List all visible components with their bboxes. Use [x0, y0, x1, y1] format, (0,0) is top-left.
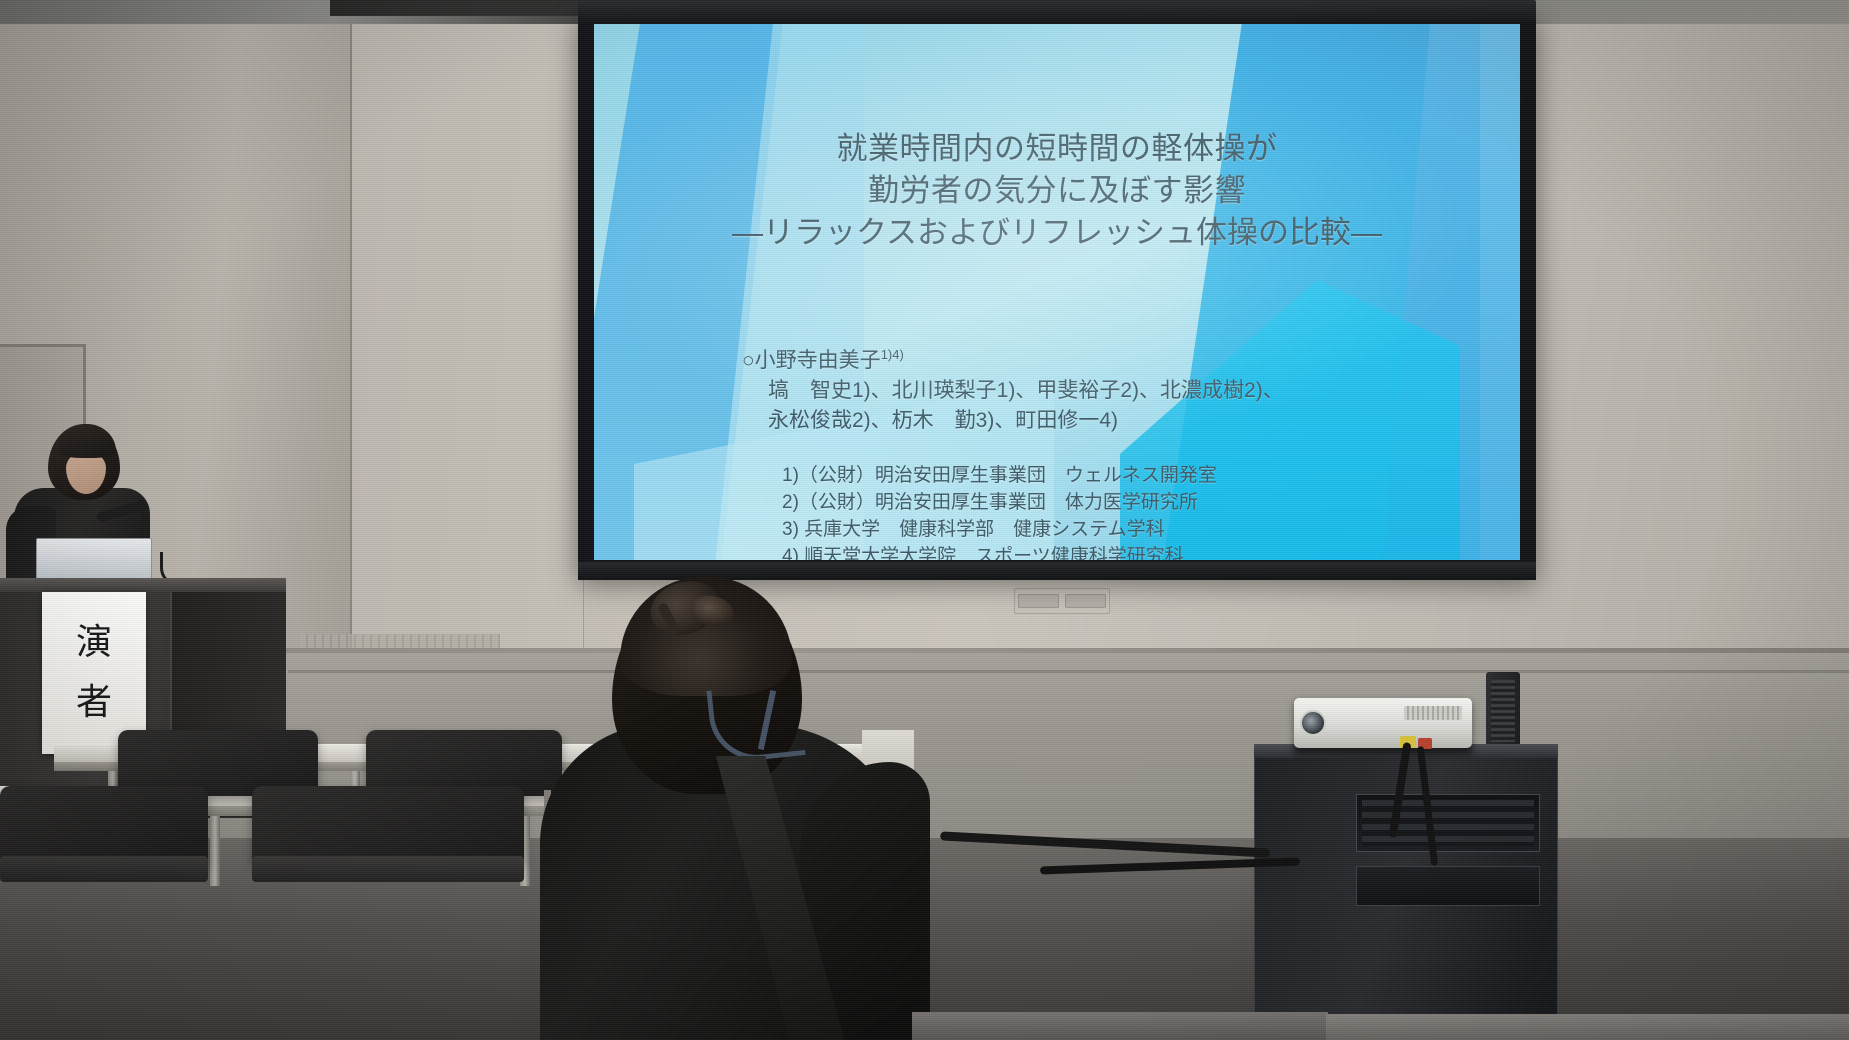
wall-outlet-plate[interactable] — [1014, 588, 1110, 614]
presenting-author-name: ○小野寺由美子 — [742, 349, 881, 372]
outlet-socket-left — [1018, 594, 1059, 608]
projector-lens-icon — [1300, 710, 1326, 736]
wall-panel-left-2 — [352, 22, 584, 662]
lecture-hall-photo: 就業時間内の短時間の軽体操が 勤労者の気分に及ぼす影響 ―リラックスおよびリフレ… — [0, 0, 1849, 1040]
av-cart-lower-panel — [1356, 866, 1540, 906]
table-leg-5 — [210, 816, 220, 886]
slide-title: 就業時間内の短時間の軽体操が 勤労者の気分に及ぼす影響 ―リラックスおよびリフレ… — [594, 128, 1520, 254]
chair-front-1[interactable] — [0, 786, 208, 864]
floor-vent — [300, 634, 500, 648]
speaker-grill — [1491, 680, 1515, 742]
av-cart-shelf-slots — [1362, 800, 1534, 846]
slide-author-block: ○小野寺由美子1)4) 塙 智史1)、北川瑛梨子1)、甲斐裕子2)、北濃成樹2)… — [742, 340, 1284, 436]
affiliation-2: 2)（公財）明治安田厚生事業団 体力医学研究所 — [782, 489, 1217, 516]
outlet-socket-right — [1065, 594, 1106, 608]
slide-background: 就業時間内の短時間の軽体操が 勤労者の気分に及ぼす影響 ―リラックスおよびリフレ… — [594, 24, 1520, 560]
coauthor-line-2: 永松俊哉2)、杤木 勤3)、町田修一4) — [768, 406, 1284, 436]
slide-affiliation-block: 1)（公財）明治安田厚生事業団 ウェルネス開発室 2)（公財）明治安田厚生事業団… — [782, 462, 1217, 560]
wall-dado-line-2 — [288, 670, 1849, 673]
podium-top-surface — [0, 578, 286, 592]
podium-sign-char-1: 演 — [76, 625, 112, 661]
presenting-author: ○小野寺由美子1)4) — [742, 340, 1284, 376]
presenting-author-affil-marks: 1)4) — [881, 347, 904, 362]
projected-slide: 就業時間内の短時間の軽体操が 勤労者の気分に及ぼす影響 ―リラックスおよびリフレ… — [594, 24, 1520, 560]
coauthor-line-1: 塙 智史1)、北川瑛梨子1)、甲斐裕子2)、北濃成樹2)、 — [768, 376, 1284, 406]
floor-edge-strip-right — [1326, 1014, 1849, 1040]
projector-vent — [1404, 706, 1462, 720]
affiliation-1: 1)（公財）明治安田厚生事業団 ウェルネス開発室 — [782, 462, 1217, 489]
chair-front-2[interactable] — [252, 786, 524, 864]
chair-front-2-seat[interactable] — [252, 856, 524, 882]
floor-edge-strip-left — [912, 1012, 1328, 1040]
slide-title-line-1: 就業時間内の短時間の軽体操が — [594, 128, 1520, 170]
slide-title-line-2: 勤労者の気分に及ぼす影響 — [594, 170, 1520, 212]
affiliation-3: 3) 兵庫大学 健康科学部 健康システム学科 — [782, 516, 1217, 543]
affiliation-4: 4) 順天堂大学大学院 スポーツ健康科学研究科 — [782, 543, 1217, 560]
slide-title-line-3: ―リラックスおよびリフレッシュ体操の比較― — [594, 212, 1520, 254]
podium-sign-char-2: 者 — [76, 685, 112, 721]
projection-screen-case — [578, 0, 1536, 22]
chair-front-1-seat[interactable] — [0, 856, 208, 882]
